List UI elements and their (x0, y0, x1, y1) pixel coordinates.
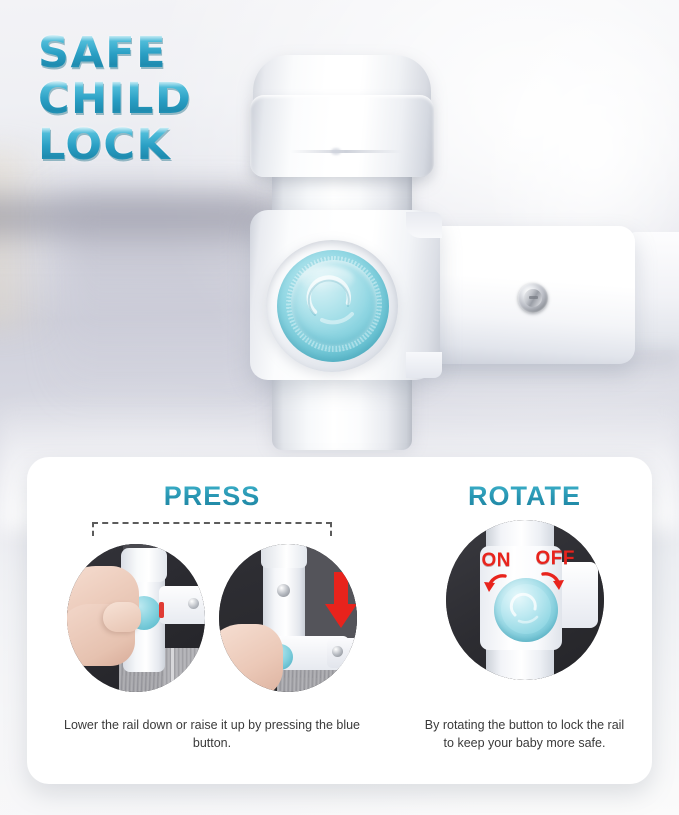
rail-arm-highlight (430, 236, 620, 266)
metal-screw-slot (529, 296, 538, 299)
photo2-screw-lower (332, 646, 343, 657)
photo1-red-marker (159, 602, 164, 618)
title-line-1: SAFE (38, 32, 192, 74)
step-rotate-heading: ROTATE (397, 481, 652, 512)
photo2-screw (277, 584, 290, 597)
rail-post-seam (290, 150, 402, 153)
press-photo-2 (219, 544, 357, 692)
press-photo-1 (67, 544, 205, 692)
title-line-3: LOCK (38, 124, 192, 166)
photo1-screw (188, 598, 199, 609)
down-arrow-icon (323, 572, 357, 628)
bracket-left-tick (92, 522, 94, 536)
rotate-photo: ON OFF (446, 520, 604, 680)
title-line-2: CHILD (38, 78, 192, 120)
label-on: ON (482, 550, 512, 572)
rail-post-dimple (331, 148, 341, 155)
product-infographic-poster: SAFE CHILD LOCK PRESS (0, 0, 679, 815)
press-caption: Lower the rail down or raise it up by pr… (27, 716, 397, 752)
rotate-caption: By rotating the button to lock the rail … (397, 716, 652, 752)
rotate-right-arrow-icon (540, 570, 566, 594)
step-rotate: ROTATE ON OFF (397, 457, 652, 784)
photo1-fabric-rail-2 (163, 648, 205, 692)
collar-notch-top (406, 212, 442, 238)
bracket-right-tick (330, 522, 332, 536)
instruction-card: PRESS (27, 457, 652, 784)
photo1-thumb (103, 602, 141, 632)
photo2-post-cap (261, 544, 307, 568)
rail-post-cap-ring (250, 95, 434, 177)
step-press-heading: PRESS (27, 481, 397, 512)
photo2-fabric-rail (277, 670, 357, 692)
press-photo-row (27, 544, 397, 692)
rotate-left-arrow-icon (482, 572, 508, 596)
rail-far-segment (628, 232, 679, 350)
page-title: SAFE CHILD LOCK (38, 32, 192, 170)
collar-notch-bottom (406, 352, 442, 378)
button-gloss-highlight (300, 266, 354, 292)
press-dashed-bracket (92, 522, 332, 536)
photo2-hand (219, 624, 283, 692)
bracket-top-line (92, 522, 332, 524)
step-press: PRESS (27, 457, 397, 784)
label-off: OFF (536, 548, 576, 570)
photo1-fabric-seam (171, 648, 174, 692)
